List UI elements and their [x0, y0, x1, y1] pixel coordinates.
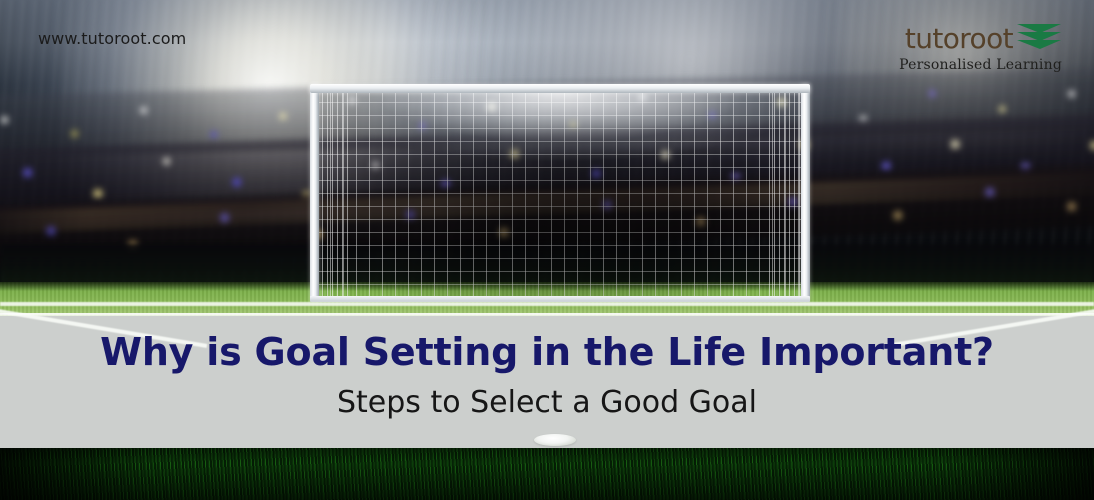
goal-net	[317, 91, 803, 298]
foreground-grass-vignette	[0, 448, 1094, 500]
goal-post-right	[801, 84, 810, 302]
soccer-ball-icon	[534, 434, 576, 446]
goal-net-side-left	[317, 91, 351, 298]
promo-banner: Why is Goal Setting in the Life Importan…	[0, 0, 1094, 500]
brand-logo[interactable]: tutoroot Personalised Learning	[899, 22, 1062, 72]
page-title: Why is Goal Setting in the Life Importan…	[0, 333, 1094, 373]
goal-net-side-right	[769, 91, 803, 298]
goal-crossbar	[310, 84, 810, 93]
soccer-goal-icon	[310, 84, 810, 302]
pitch-goal-line	[0, 302, 1094, 306]
logo-tagline: Personalised Learning	[899, 58, 1062, 72]
headline-band-top-edge	[0, 313, 1094, 315]
page-subtitle: Steps to Select a Good Goal	[0, 386, 1094, 419]
logo-row: tutoroot	[899, 22, 1062, 56]
site-url-label: www.tutoroot.com	[38, 29, 186, 48]
goal-post-left	[310, 84, 319, 302]
leaf-chevron-icon	[1016, 22, 1062, 56]
logo-wordmark: tutoroot	[905, 25, 1013, 53]
